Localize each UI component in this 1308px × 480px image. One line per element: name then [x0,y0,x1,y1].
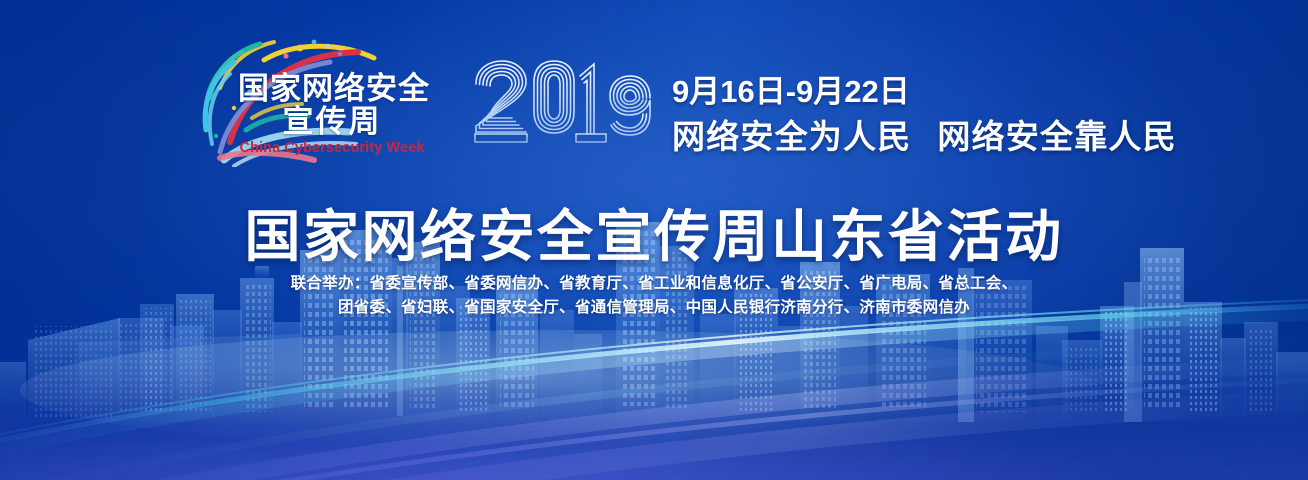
cybersecurity-week-logo: 国家网络安全 宣传周 China Cybersecurity Week [190,32,430,167]
slogan-part-2: 网络安全靠人民 [937,118,1176,155]
organizers-block: 联合举办：省委宣传部、省委网信办、省教育厅、省工业和信息化厅、省公安厅、省广电局… [0,272,1308,320]
year-2019-graphic [472,58,657,158]
slogan-part-1: 网络安全为人民 [672,118,911,155]
logo-name-line1: 国家网络安全 [238,72,426,105]
logo-text-block: 国家网络安全 宣传周 China Cybersecurity Week [238,72,426,156]
logo-english-name: China Cybersecurity Week [238,140,426,156]
cybersecurity-week-banner: 国家网络安全 宣传周 China Cybersecurity Week [0,0,1308,480]
event-slogan: 网络安全为人民网络安全靠人民 [672,110,1177,158]
event-date-range: 9月16日-9月22日 [672,66,910,111]
page-title: 国家网络安全宣传周山东省活动 [0,192,1308,273]
organizers-line-2: 团省委、省妇联、省国家安全厅、省通信管理局、中国人民银行济南分行、济南市委网信办 [0,296,1308,320]
organizers-line-1: 联合举办：省委宣传部、省委网信办、省教育厅、省工业和信息化厅、省公安厅、省广电局… [0,272,1308,296]
logo-name-line2: 宣传周 [238,105,426,138]
